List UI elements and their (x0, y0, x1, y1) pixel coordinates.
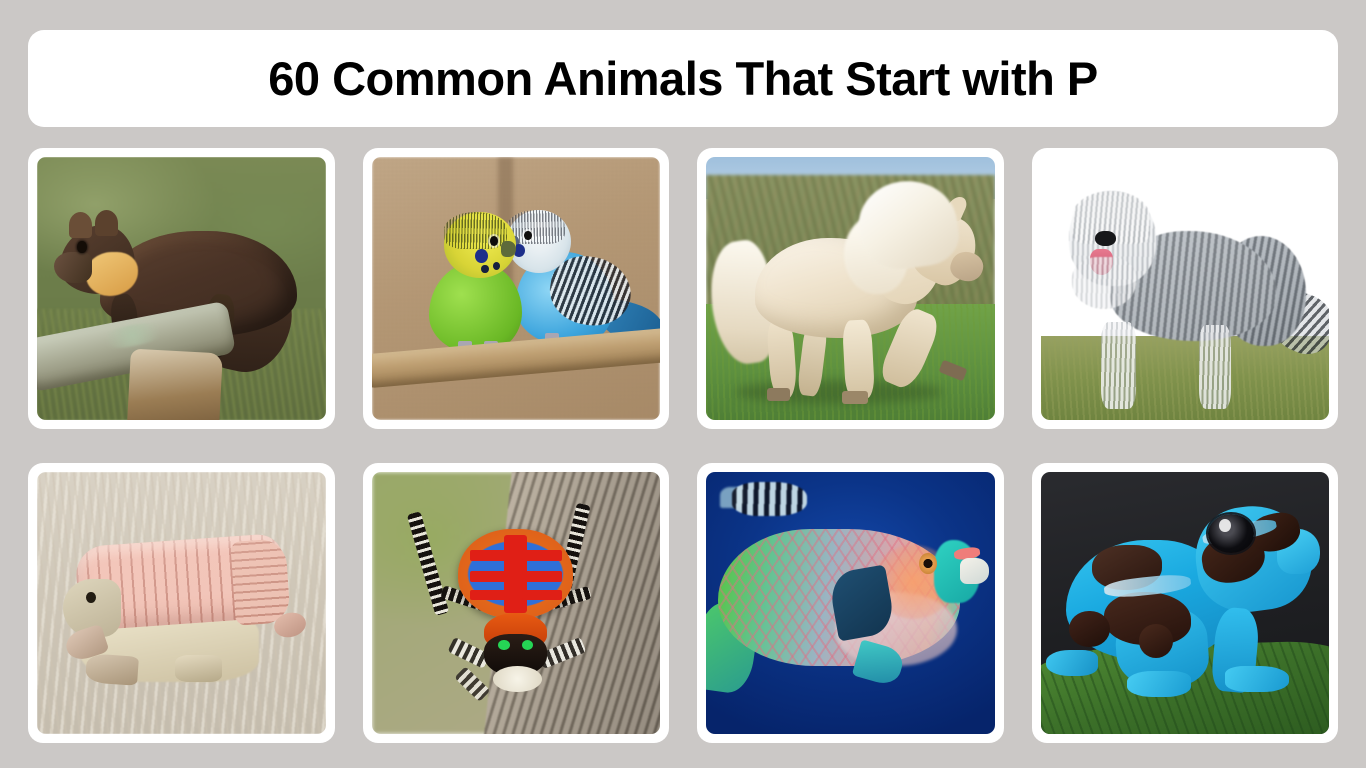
title-card: 60 Common Animals That Start with P (28, 30, 1338, 127)
dog-front-leg (1101, 322, 1136, 409)
pony-front-leg-left (842, 319, 875, 399)
parrotfish-beak (960, 558, 989, 584)
pine-marten-photo (37, 157, 326, 420)
marten-eye (77, 241, 86, 253)
green-budgie-beak (501, 241, 515, 257)
spider-fan-rib-4 (522, 550, 562, 561)
parrotfish-eye (919, 553, 936, 574)
parrotfish-photo (706, 472, 995, 735)
pony-hoof-front-left (842, 391, 868, 404)
striped-background-fish (732, 482, 807, 516)
marten-ear-left (69, 212, 92, 238)
spider-fan-rib-6 (522, 590, 562, 601)
frog-black-blotch-4 (1069, 611, 1109, 648)
armadillo-hind-foot (175, 655, 221, 681)
dog-nose (1095, 231, 1115, 247)
spider-eye-left (498, 640, 510, 651)
frog-foot-left (1127, 671, 1190, 697)
frog-leg-blotch (1139, 624, 1174, 658)
spider-eye-right (522, 640, 534, 651)
marten-ear-right (95, 210, 118, 236)
gallery-card-peacock-spider[interactable] (363, 463, 670, 744)
green-budgie-throat-spot-1 (481, 265, 489, 273)
peacock-spider-photo (372, 472, 661, 735)
armadillo-eye (86, 592, 96, 603)
tree-stump (127, 349, 223, 420)
sheepdog-photo (1041, 157, 1330, 420)
spider-fan-rib-3 (470, 590, 510, 601)
pink-fairy-armadillo-photo (37, 472, 326, 735)
gallery-card-parrotfish[interactable] (697, 463, 1004, 744)
pony-photo (706, 157, 995, 420)
poison-dart-frog-photo (1041, 472, 1330, 735)
marten-snout (54, 252, 92, 284)
gallery-card-pink-fairy-armadillo[interactable] (28, 463, 335, 744)
parakeet-photo (372, 157, 661, 420)
gallery-card-poison-dart-frog[interactable] (1032, 463, 1339, 744)
gallery-card-pony[interactable] (697, 148, 1004, 429)
spider-fan-rib-5 (522, 571, 562, 582)
frog-eye (1208, 514, 1254, 553)
grass-field (1041, 336, 1330, 420)
gallery-card-pine-marten[interactable] (28, 148, 335, 429)
animal-gallery-grid (28, 148, 1338, 743)
green-budgie-cap-stripes (444, 212, 507, 249)
spider-pedipalps (493, 666, 542, 692)
spider-fan-rib-1 (470, 550, 510, 561)
frog-foot-rear (1046, 650, 1098, 676)
page-root: 60 Common Animals That Start with P (0, 0, 1366, 768)
frog-foot-right (1225, 666, 1288, 692)
dog-hind-leg (1199, 325, 1231, 409)
page-title: 60 Common Animals That Start with P (268, 55, 1098, 102)
pony-hoof-rear-left (767, 388, 790, 401)
gallery-card-parakeet[interactable] (363, 148, 670, 429)
gallery-card-sheepdog[interactable] (1032, 148, 1339, 429)
armadillo-rear-shield (230, 538, 291, 626)
spider-fan-rib-2 (470, 571, 510, 582)
frog-eye-glint (1219, 519, 1231, 532)
dog-beard (1072, 257, 1135, 310)
